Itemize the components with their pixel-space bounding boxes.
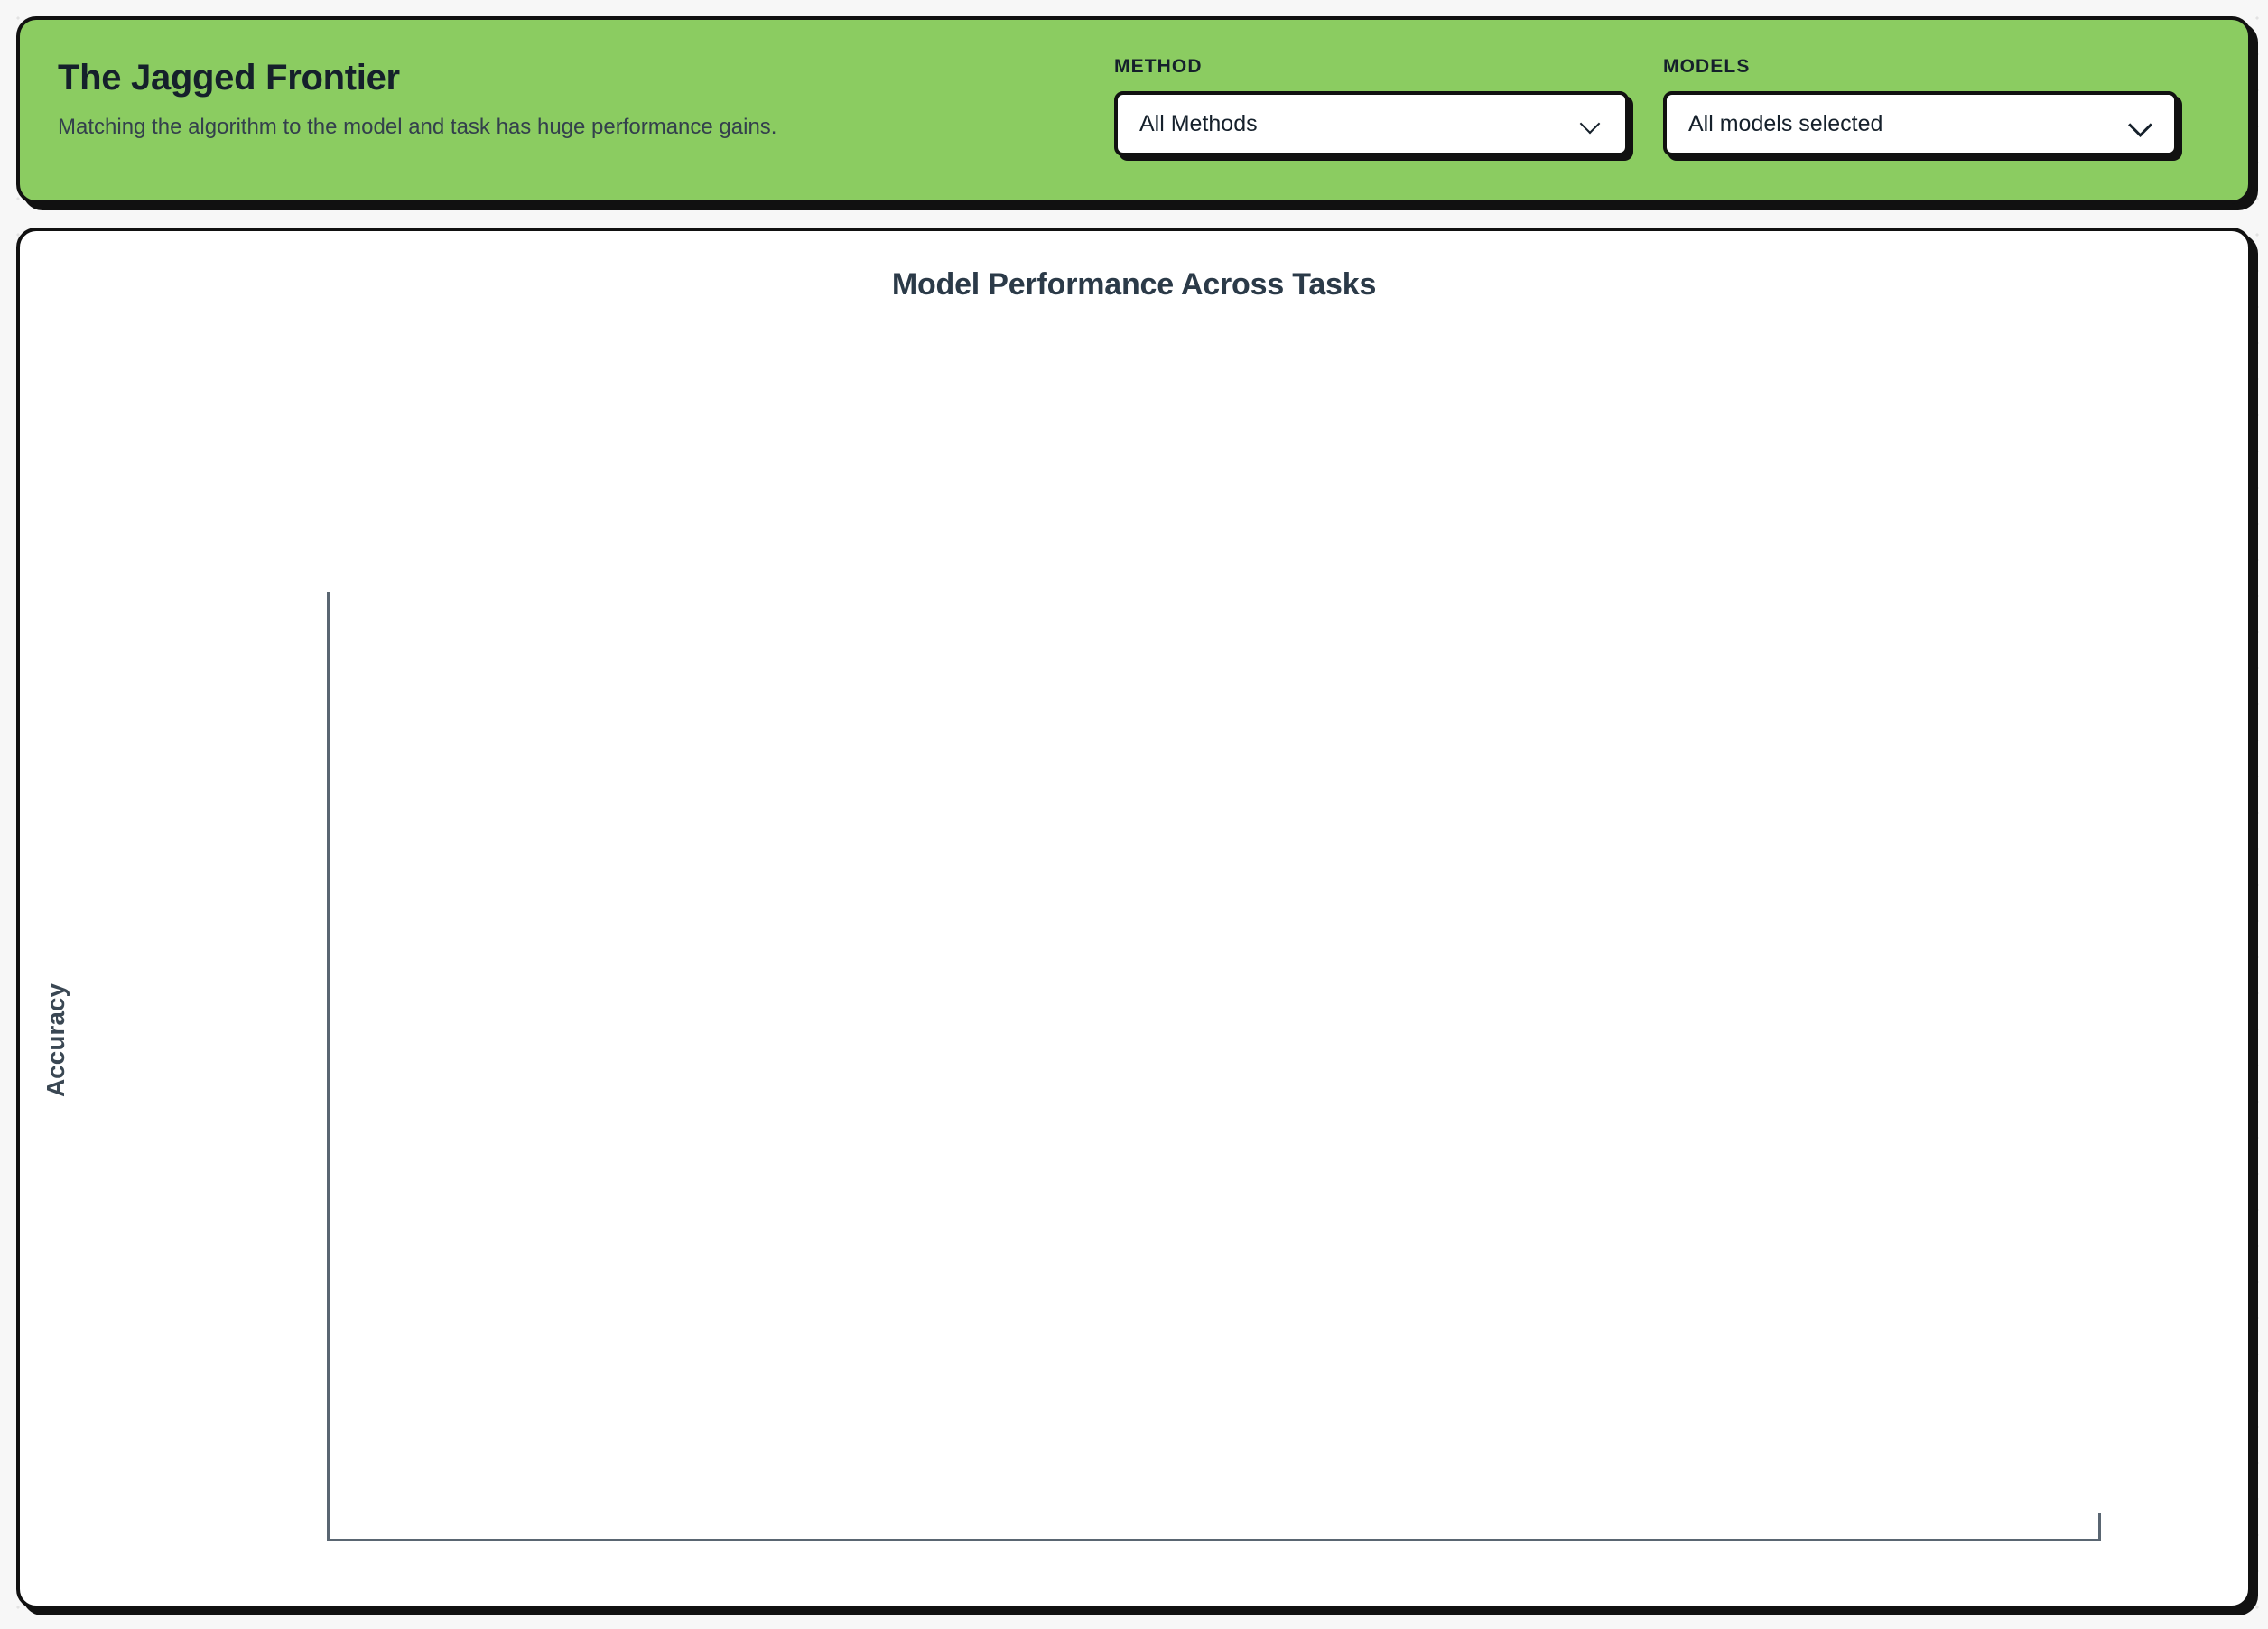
app-root: The Jagged Frontier Matching the algorit… <box>0 0 2268 1629</box>
filter-controls: METHOD All Methods MODELS All models sel… <box>1114 51 2178 156</box>
y-tick-label: 0.1 <box>2248 1429 2252 1455</box>
y-tick-label: 0.8 <box>2248 767 2252 793</box>
models-select[interactable]: All models selected <box>1663 91 2178 156</box>
page-subtitle: Matching the algorithm to the model and … <box>58 115 1114 140</box>
x-axis-line <box>327 1539 2101 1541</box>
method-filter-group: METHOD All Methods <box>1114 56 1629 156</box>
y-tick-label: 1 <box>2248 577 2252 603</box>
models-filter-group: MODELS All models selected <box>1663 56 2178 156</box>
method-select-value: All Methods <box>1139 111 1580 137</box>
y-tick-label: 0.5 <box>2248 1050 2252 1076</box>
y-tick-label: 0.2 <box>2248 1334 2252 1360</box>
method-select[interactable]: All Methods <box>1114 91 1629 156</box>
y-axis-line <box>327 592 330 1539</box>
header-text-block: The Jagged Frontier Matching the algorit… <box>58 51 1114 140</box>
y-tick-label: 0.9 <box>2248 672 2252 698</box>
y-tick-label: 0 <box>2248 1523 2252 1550</box>
y-tick-label: 0.4 <box>2248 1145 2252 1171</box>
chart-card: Model Performance Across Tasks 00.10.20.… <box>16 228 2252 1609</box>
y-tick-label: 0.3 <box>2248 1240 2252 1266</box>
header-banner: The Jagged Frontier Matching the algorit… <box>16 16 2252 204</box>
models-label: MODELS <box>1663 56 2178 78</box>
chevron-down-icon <box>1580 112 1603 135</box>
y-axis-title: Accuracy <box>42 814 70 1266</box>
page-title: The Jagged Frontier <box>58 58 1114 98</box>
y-tick-label: 0.7 <box>2248 861 2252 887</box>
y-tick-label: 0.6 <box>2248 955 2252 982</box>
x-axis-end-cap <box>2098 1513 2101 1541</box>
method-label: METHOD <box>1114 56 1629 78</box>
chevron-down-icon <box>2129 112 2152 135</box>
models-select-value: All models selected <box>1688 111 2129 137</box>
scatter-plot: 00.10.20.30.40.50.60.70.80.91 Task Categ… <box>20 231 2248 1606</box>
